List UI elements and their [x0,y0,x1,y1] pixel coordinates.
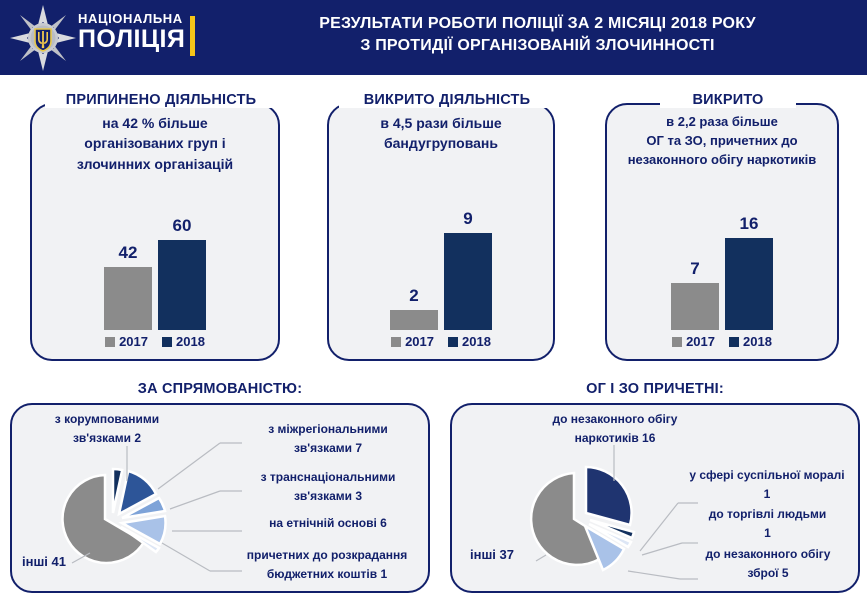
pie-label-drug-trafficking: до незаконного обігу наркотиків 16 [520,410,710,448]
pie-label-transnational-links: з транснаціональними зв'язками 3 [238,468,418,506]
brand-accent-bar [190,16,195,56]
card-title-exposed-activity: ВИКРИТО ДІЯЛЬНІСТЬ [339,92,555,108]
bar-2017 [671,283,719,330]
card-subtitle-line: в 4,5 рази більше [332,113,550,133]
legend-exposed-activity: 2017 2018 [327,334,555,349]
bar-value-2018: 9 [463,209,472,229]
pie-label-line: зброї 5 [678,564,858,583]
bar-value-2017: 42 [119,243,138,263]
card-subtitle-line: бандугруповань [332,133,550,153]
page-title-line-1: РЕЗУЛЬТАТИ РОБОТИ ПОЛІЦІЇ ЗА 2 МІСЯЦІ 20… [215,13,860,35]
pie-label-public-morals: у сфері суспільної моралі 1 [672,466,862,504]
bar-chart-ceased-activity: 42 60 [30,205,280,330]
legend-item-2018: 2018 [729,334,772,349]
legend-label-2018: 2018 [743,334,772,349]
bar-chart-exposed-activity: 2 9 [327,205,555,330]
brand-line-2: ПОЛІЦІЯ [78,27,185,52]
pie-label-others-by-direction: інші 41 [22,552,112,573]
legend-swatch-2017-icon [391,337,401,347]
page-header: НАЦІОНАЛЬНА ПОЛІЦІЯ РЕЗУЛЬТАТИ РОБОТИ ПО… [0,0,867,75]
legend-item-2017: 2017 [391,334,434,349]
bar-2018 [444,233,492,330]
legend-item-2017: 2017 [672,334,715,349]
pie-label-line: інші 41 [22,552,112,573]
card-subtitle-line: на 42 % більше [36,113,274,133]
bar-value-2017: 7 [690,259,699,279]
bar-value-2017: 2 [409,286,418,306]
bar-2018 [158,240,206,330]
pie-label-line: 1 [672,485,862,504]
legend-label-2017: 2017 [119,334,148,349]
pie-label-line: до незаконного обігу [678,545,858,564]
bar-group-2018: 9 [444,209,492,330]
pie-label-line: у сфері суспільної моралі [672,466,862,485]
bar-2017 [104,267,152,330]
legend-swatch-2018-icon [729,337,739,347]
card-title-exposed-drugs: ВИКРИТО [660,92,796,108]
brand-line-1: НАЦІОНАЛЬНА [78,12,185,25]
pie-label-line: інші 37 [470,545,560,566]
pie-label-line: зв'язками 2 [32,429,182,448]
bar-2017 [390,310,438,330]
pie-label-ethnic-basis: на етнічній основі 6 [238,514,418,533]
legend-label-2018: 2018 [462,334,491,349]
pie-label-line: на етнічній основі 6 [238,514,418,533]
pie-label-budget-embezzlement: причетних до розкрадання бюджетних кошті… [232,546,422,584]
page-title: РЕЗУЛЬТАТИ РОБОТИ ПОЛІЦІЇ ЗА 2 МІСЯЦІ 20… [215,13,860,56]
card-subtitle-ceased-activity: на 42 % більше організованих груп і злоч… [36,113,274,174]
legend-swatch-2017-icon [105,337,115,347]
card-subtitle-line: незаконного обігу наркотиків [604,151,840,170]
panel-title-og-zo-involved: ОГ І ЗО ПРИЧЕТНІ: [450,381,860,397]
national-police-emblem-icon [8,4,78,72]
pie-label-line: причетних до розкрадання [232,546,422,565]
legend-swatch-2018-icon [448,337,458,347]
pie-label-line: наркотиків 16 [520,429,710,448]
legend-ceased-activity: 2017 2018 [30,334,280,349]
page-title-line-2: З ПРОТИДІЇ ОРГАНІЗОВАНІЙ ЗЛОЧИННОСТІ [215,35,860,57]
card-subtitle-line: злочинних організацій [36,154,274,174]
bar-2018 [725,238,773,330]
bar-chart-exposed-drugs: 7 16 [605,205,839,330]
legend-item-2018: 2018 [448,334,491,349]
pie-label-corrupt-links: з корумпованими зв'язками 2 [32,410,182,448]
pie-label-line: зв'язками 3 [238,487,418,506]
pie-label-weapons-trafficking: до незаконного обігу зброї 5 [678,545,858,583]
legend-exposed-drugs: 2017 2018 [605,334,839,349]
card-subtitle-line: ОГ та ЗО, причетних до [604,132,840,151]
pie-label-line: з міжрегіональними [238,420,418,439]
legend-item-2018: 2018 [162,334,205,349]
bar-group-2017: 42 [104,243,152,330]
legend-swatch-2017-icon [672,337,682,347]
card-subtitle-line: організованих груп і [36,133,274,153]
legend-label-2018: 2018 [176,334,205,349]
legend-swatch-2018-icon [162,337,172,347]
card-subtitle-line: в 2,2 раза більше [604,113,840,132]
pie-label-line: з транснаціональними [238,468,418,487]
pie-label-interregional-links: з міжрегіональними зв'язками 7 [238,420,418,458]
bar-group-2018: 16 [725,214,773,330]
pie-label-line: бюджетних коштів 1 [232,565,422,584]
legend-label-2017: 2017 [686,334,715,349]
pie-label-line: до торгівлі людьми [680,505,855,524]
pie-label-line: 1 [680,524,855,543]
bar-group-2018: 60 [158,216,206,330]
pie-label-line: зв'язками 7 [238,439,418,458]
pie-label-others-og-zo: інші 37 [470,545,560,566]
brand-wordmark: НАЦІОНАЛЬНА ПОЛІЦІЯ [78,12,185,52]
bar-value-2018: 16 [740,214,759,234]
card-subtitle-exposed-drugs: в 2,2 раза більше ОГ та ЗО, причетних до… [604,113,840,170]
pie-label-human-trafficking: до торгівлі людьми 1 [680,505,855,543]
legend-label-2017: 2017 [405,334,434,349]
pie-label-line: з корумпованими [32,410,182,429]
legend-item-2017: 2017 [105,334,148,349]
panel-title-by-direction: ЗА СПРЯМОВАНІСТЮ: [10,381,430,397]
pie-label-line: до незаконного обігу [520,410,710,429]
bar-group-2017: 7 [671,259,719,330]
bar-group-2017: 2 [390,286,438,330]
bar-value-2018: 60 [173,216,192,236]
card-title-ceased-activity: ПРИПИНЕНО ДІЯЛЬНІСТЬ [45,92,277,108]
card-subtitle-exposed-activity: в 4,5 рази більше бандугруповань [332,113,550,154]
